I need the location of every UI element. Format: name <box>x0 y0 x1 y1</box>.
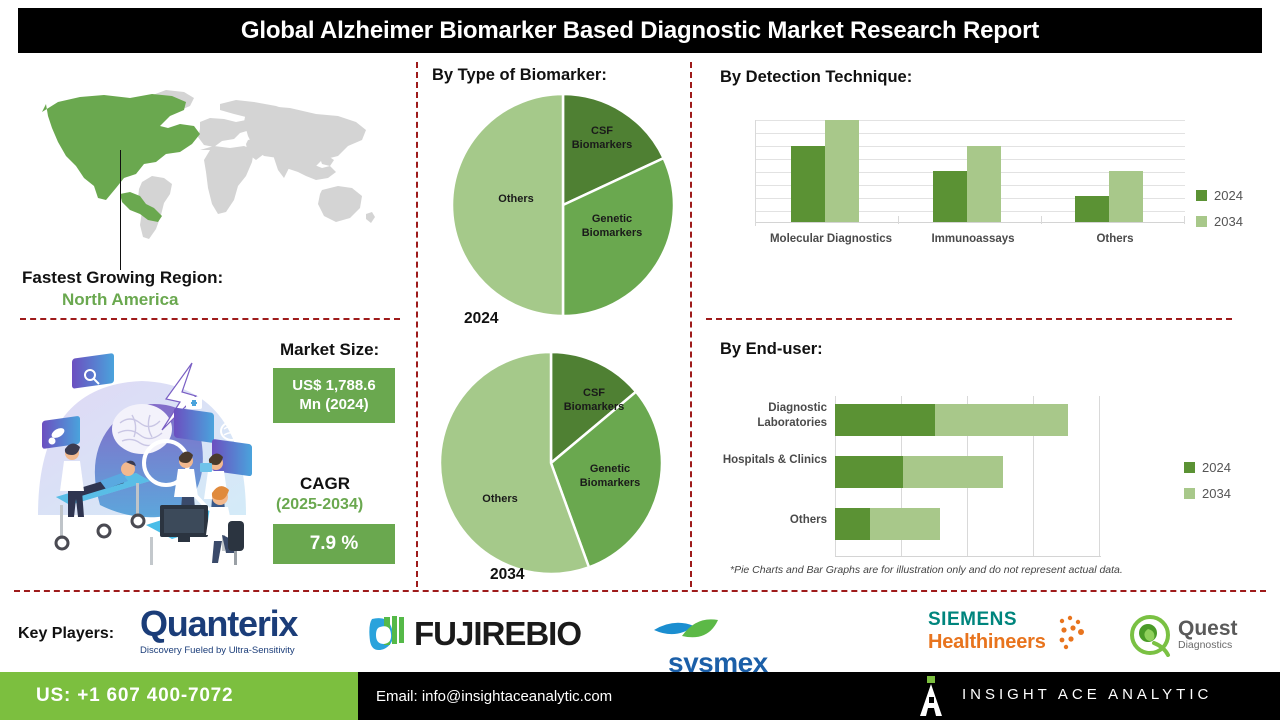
map-pointer-line <box>120 150 121 270</box>
header-bar: Global Alzheimer Biomarker Based Diagnos… <box>18 8 1262 53</box>
bar-others-2024 <box>1075 196 1109 222</box>
pie-chart-2034: CSF Biomarkers Genetic Biomarkers Others <box>438 350 664 576</box>
detection-category-label-molecular: Molecular Diagnostics <box>766 232 896 246</box>
pie-2024-year: 2024 <box>464 310 498 328</box>
category-tick <box>898 216 899 224</box>
pie-2034-label-others: Others <box>482 493 517 505</box>
pie-2024-label-csf-line1: CSF <box>591 125 613 137</box>
cagr-years: (2025-2034) <box>276 496 363 514</box>
logo-fujirebio-wordmark: FUJIREBIO <box>414 615 581 653</box>
pie-2034-label-csf-line1: CSF <box>583 387 605 399</box>
bar-others-2034 <box>1109 171 1143 222</box>
x-axis-line <box>835 556 1101 557</box>
logo-siemens-dots-icon <box>1054 614 1100 654</box>
market-size-box: US$ 1,788.6 Mn (2024) <box>273 368 395 423</box>
end-user-chart-legend: 2024 2034 <box>1184 460 1231 512</box>
pie-2034-label-csf-line2: Biomarkers <box>564 401 625 413</box>
enduser-category-label-diagnostic-laboratories: Diagnostic Laboratories <box>712 401 827 431</box>
bar-molecular-diagnostics-2034 <box>825 120 859 222</box>
page-title: Global Alzheimer Biomarker Based Diagnos… <box>241 17 1039 45</box>
gridline <box>755 133 1185 134</box>
logo-quest-subtext: Diagnostics <box>1178 639 1238 652</box>
pie-2024-label-genetic-line2: Biomarkers <box>582 227 643 239</box>
bar-immunoassays-2024 <box>933 171 967 222</box>
detection-chart-legend: 2024 2034 <box>1196 188 1243 240</box>
pie-2024-label-others: Others <box>498 193 533 205</box>
detection-category-label-others: Others <box>1050 232 1180 246</box>
market-size-value-line1: US$ 1,788.6 <box>292 377 375 396</box>
pie-2034-year: 2034 <box>490 566 524 584</box>
detection-category-label-immunoassays: Immunoassays <box>908 232 1038 246</box>
detection-section-title: By Detection Technique: <box>720 68 912 87</box>
logo-fujirebio: FUJIREBIO <box>368 612 603 656</box>
category-tick <box>1184 216 1185 224</box>
key-players-label: Key Players: <box>18 625 114 643</box>
cagr-title: CAGR <box>300 474 350 494</box>
end-user-chart <box>835 396 1125 560</box>
legend-swatch-2034 <box>1196 216 1207 227</box>
logo-sysmex: sysmex <box>652 614 827 660</box>
cagr-value-box: 7.9 % <box>273 524 395 564</box>
map-north-america-highlight <box>42 94 200 222</box>
pie-section-title: By Type of Biomarker: <box>432 66 607 85</box>
divider-horizontal-right <box>706 318 1232 320</box>
bar-hospitals-clinics-2034 <box>903 456 1003 488</box>
logo-quest-mark <box>1128 613 1172 657</box>
legend-label-2024: 2024 <box>1202 460 1231 475</box>
legend-item-2024: 2024 <box>1184 460 1231 475</box>
enduser-category-label-others: Others <box>712 513 827 528</box>
enduser-section-title: By End-user: <box>720 340 823 359</box>
insight-ace-logo-icon <box>918 676 944 716</box>
bar-hospitals-clinics-2024 <box>835 456 903 488</box>
infographic-page: Global Alzheimer Biomarker Based Diagnos… <box>0 0 1280 720</box>
legend-swatch-2034 <box>1184 488 1195 499</box>
divider-vertical-right <box>690 62 692 587</box>
footer-brand-name: INSIGHT ACE ANALYTIC <box>962 686 1212 703</box>
legend-label-2034: 2034 <box>1202 486 1231 501</box>
divider-horizontal-left <box>20 318 400 320</box>
footer-email: Email: info@insightaceanalytic.com <box>376 688 612 705</box>
world-map <box>24 78 394 253</box>
pie-2024-label-csf-line2: Biomarkers <box>572 139 633 151</box>
y-axis-line <box>755 120 756 226</box>
bar-molecular-diagnostics-2024 <box>791 146 825 222</box>
legend-swatch-2024 <box>1196 190 1207 201</box>
footer-phone-panel: US: +1 607 400-7072 <box>0 672 358 720</box>
logo-siemens-healthineers: SIEMENS Healthineers <box>928 610 1108 662</box>
legend-item-2034: 2034 <box>1196 214 1243 229</box>
fastest-growing-region-label: Fastest Growing Region: <box>22 268 223 288</box>
logo-quest-wordmark: Quest <box>1178 618 1238 639</box>
bar-immunoassays-2034 <box>967 146 1001 222</box>
x-axis-line <box>755 222 1185 223</box>
logo-quanterix: Quanterix Discovery Fueled by Ultra-Sens… <box>140 606 335 662</box>
legend-swatch-2024 <box>1184 462 1195 473</box>
logo-quanterix-wordmark: Quanterix <box>140 606 335 642</box>
legend-label-2024: 2024 <box>1214 188 1243 203</box>
logo-quest-diagnostics: Quest Diagnostics <box>1128 612 1278 658</box>
bar-others-2024 <box>835 508 870 540</box>
chart-footnote: *Pie Charts and Bar Graphs are for illus… <box>730 564 1123 576</box>
fastest-growing-region-value: North America <box>62 290 179 310</box>
legend-item-2034: 2034 <box>1184 486 1231 501</box>
market-size-title: Market Size: <box>280 340 379 360</box>
bar-diagnostic-laboratories-2024 <box>835 404 935 436</box>
logo-quanterix-tagline: Discovery Fueled by Ultra-Sensitivity <box>140 645 335 656</box>
pie-2034-label-genetic-line2: Biomarkers <box>580 477 641 489</box>
logo-fujirebio-mark <box>368 613 410 655</box>
bar-diagnostic-laboratories-2034 <box>935 404 1068 436</box>
enduser-category-label-hospitals-clinics: Hospitals & Clinics <box>712 453 827 468</box>
legend-label-2034: 2034 <box>1214 214 1243 229</box>
pie-chart-2024: CSF Biomarkers Genetic Biomarkers Others <box>450 92 676 318</box>
divider-horizontal-bottom <box>14 590 1266 592</box>
legend-item-2024: 2024 <box>1196 188 1243 203</box>
footer-phone: US: +1 607 400-7072 <box>36 685 233 707</box>
gridline-vertical <box>1099 396 1100 556</box>
logo-sysmex-mark <box>652 614 730 646</box>
divider-vertical-left <box>416 62 418 587</box>
category-tick <box>1041 216 1042 224</box>
gridline <box>755 120 1185 121</box>
detection-technique-chart <box>755 112 1195 230</box>
pie-2034-label-genetic-line1: Genetic <box>590 463 630 475</box>
market-size-value-line2: Mn (2024) <box>299 396 368 415</box>
bar-others-2034 <box>870 508 940 540</box>
medical-diagnostics-illustration <box>14 345 270 585</box>
pie-2024-label-genetic-line1: Genetic <box>592 213 632 225</box>
